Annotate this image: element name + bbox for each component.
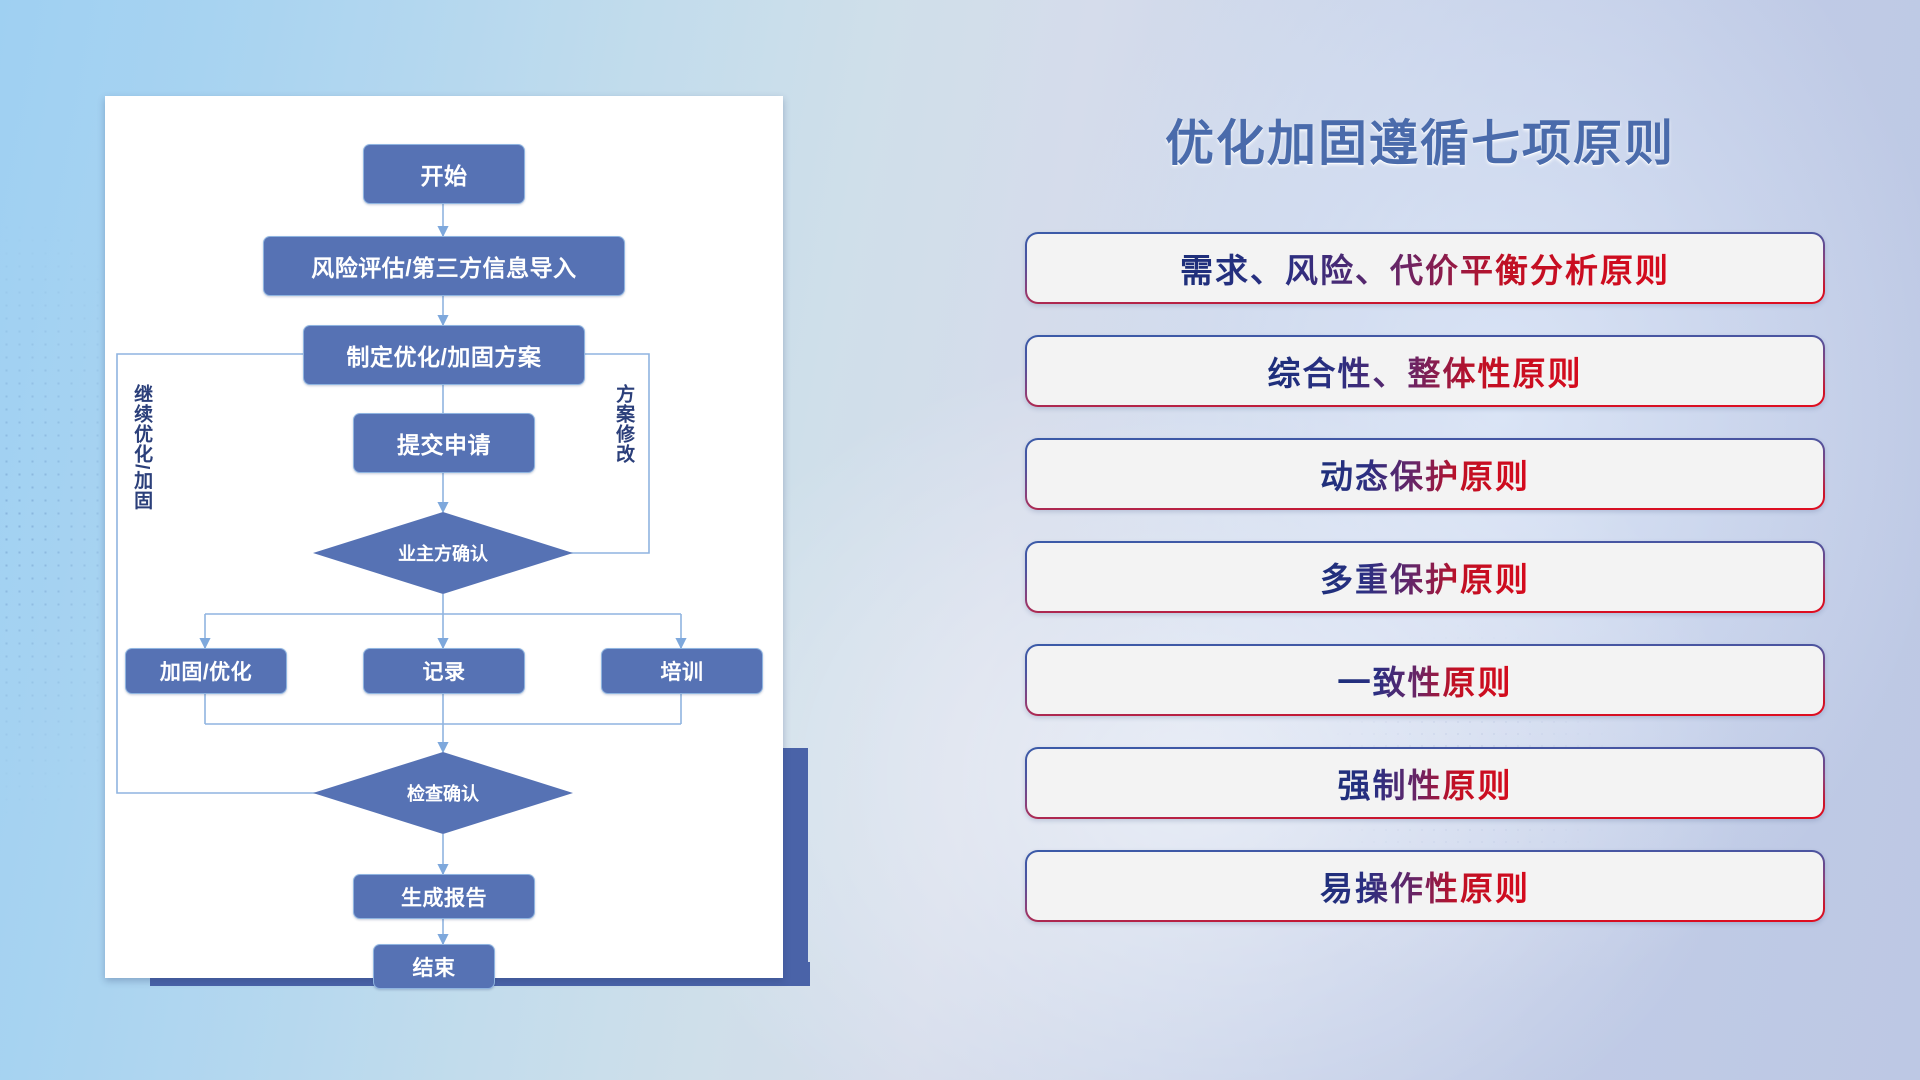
flowchart-card: 开始 风险评估/第三方信息导入 制定优化/加固方案 提交申请 业主方确认 加固/…	[105, 96, 783, 978]
principles-list: 需求、风险、代价平衡分析原则 综合性、整体性原则 动态保护原则 多重保护原则 一…	[1025, 232, 1825, 953]
flow-decision-owner-confirm[interactable]: 业主方确认	[313, 512, 573, 594]
flow-node-risk-assessment-label: 风险评估/第三方信息导入	[311, 249, 576, 283]
principle-card-6-inner: 强制性原则	[1027, 749, 1823, 817]
principle-card-1-label: 需求、风险、代价平衡分析原则	[1180, 244, 1670, 292]
flow-node-generate-report-label: 生成报告	[401, 882, 487, 912]
principle-card-1[interactable]: 需求、风险、代价平衡分析原则	[1025, 232, 1825, 304]
principle-card-6-label: 强制性原则	[1338, 759, 1513, 807]
flow-decision-inspection-confirm-label: 检查确认	[407, 780, 479, 806]
flow-node-generate-report[interactable]: 生成报告	[353, 874, 535, 919]
flow-edge-label-continue-optimize: 继续优化/加固	[131, 384, 151, 510]
page-title: 优化加固遵循七项原则	[1070, 104, 1770, 175]
principle-card-7-label: 易操作性原则	[1320, 862, 1530, 910]
principle-card-5-inner: 一致性原则	[1027, 646, 1823, 714]
flow-node-end[interactable]: 结束	[373, 944, 495, 989]
principle-card-6[interactable]: 强制性原则	[1025, 747, 1825, 819]
principle-card-3-inner: 动态保护原则	[1027, 440, 1823, 508]
flow-node-start[interactable]: 开始	[363, 144, 525, 204]
principle-card-3-label: 动态保护原则	[1320, 450, 1530, 498]
principle-card-5-label: 一致性原则	[1338, 656, 1513, 704]
flow-node-start-label: 开始	[421, 157, 468, 191]
principle-card-2-inner: 综合性、整体性原则	[1027, 337, 1823, 405]
flow-edge-label-plan-revision: 方案修改	[613, 384, 633, 464]
flow-node-training-label: 培训	[661, 656, 704, 686]
flow-node-end-label: 结束	[413, 952, 456, 982]
principle-card-7[interactable]: 易操作性原则	[1025, 850, 1825, 922]
flow-node-reinforce-optimize[interactable]: 加固/优化	[125, 648, 287, 694]
flow-node-submit-application-label: 提交申请	[397, 426, 491, 460]
principle-card-5[interactable]: 一致性原则	[1025, 644, 1825, 716]
flow-node-training[interactable]: 培训	[601, 648, 763, 694]
flow-node-risk-assessment[interactable]: 风险评估/第三方信息导入	[263, 236, 625, 296]
flow-node-reinforce-optimize-label: 加固/优化	[160, 656, 252, 686]
flow-node-make-plan[interactable]: 制定优化/加固方案	[303, 325, 585, 385]
flow-decision-inspection-confirm[interactable]: 检查确认	[313, 752, 573, 834]
principle-card-2-label: 综合性、整体性原则	[1268, 347, 1583, 395]
principle-card-1-inner: 需求、风险、代价平衡分析原则	[1027, 234, 1823, 302]
flow-node-make-plan-label: 制定优化/加固方案	[347, 338, 542, 372]
principle-card-4-label: 多重保护原则	[1320, 553, 1530, 601]
principle-card-2[interactable]: 综合性、整体性原则	[1025, 335, 1825, 407]
flow-node-submit-application[interactable]: 提交申请	[353, 413, 535, 473]
flow-node-record[interactable]: 记录	[363, 648, 525, 694]
flow-node-record-label: 记录	[423, 656, 466, 686]
principle-card-3[interactable]: 动态保护原则	[1025, 438, 1825, 510]
principle-card-7-inner: 易操作性原则	[1027, 852, 1823, 920]
principle-card-4-inner: 多重保护原则	[1027, 543, 1823, 611]
principle-card-4[interactable]: 多重保护原则	[1025, 541, 1825, 613]
flow-decision-owner-confirm-label: 业主方确认	[398, 540, 488, 566]
